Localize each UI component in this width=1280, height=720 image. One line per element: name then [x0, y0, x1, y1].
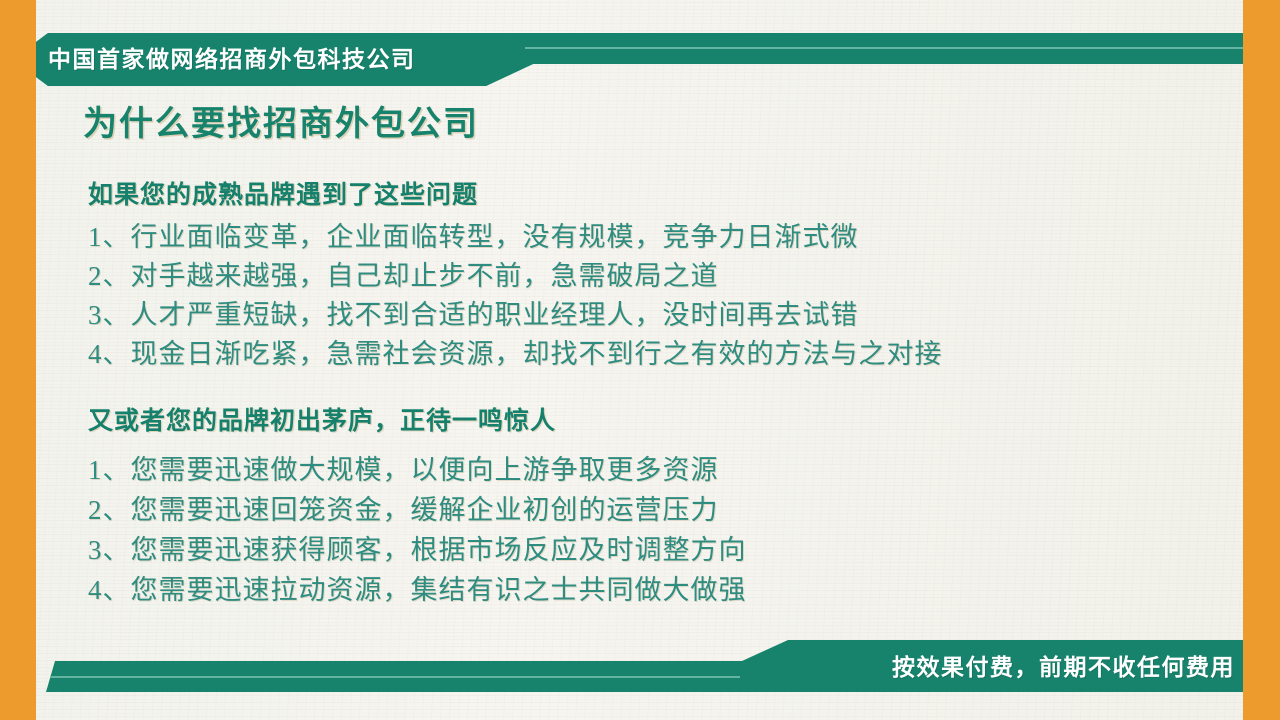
list-item: 2、您需要迅速回笼资金，缓解企业初创的运营压力	[88, 490, 1243, 530]
list-item: 4、现金日渐吃紧，急需社会资源，却找不到行之有效的方法与之对接	[88, 335, 1243, 374]
needs-list: 1、您需要迅速做大规模，以便向上游争取更多资源 2、您需要迅速回笼资金，缓解企业…	[88, 450, 1243, 610]
list-item: 1、行业面临变革，企业面临转型，没有规模，竞争力日渐式微	[88, 218, 1243, 257]
list-item: 4、您需要迅速拉动资源，集结有识之士共同做大做强	[88, 570, 1243, 610]
list-item: 1、您需要迅速做大规模，以便向上游争取更多资源	[88, 450, 1243, 490]
header-band-accent-line	[525, 47, 1243, 49]
slide-root: 中国首家做网络招商外包科技公司 为什么要找招商外包公司 如果您的成熟品牌遇到了这…	[0, 0, 1280, 720]
section-new-brand: 又或者您的品牌初出茅庐，正待一鸣惊人 1、您需要迅速做大规模，以便向上游争取更多…	[36, 404, 1243, 610]
section-mature-brand: 如果您的成熟品牌遇到了这些问题 1、行业面临变革，企业面临转型，没有规模，竞争力…	[36, 178, 1243, 374]
problem-list: 1、行业面临变革，企业面临转型，没有规模，竞争力日渐式微 2、对手越来越强，自己…	[88, 218, 1243, 374]
section-heading-new-brand: 又或者您的品牌初出茅庐，正待一鸣惊人	[88, 404, 1243, 438]
list-item: 3、您需要迅速获得顾客，根据市场反应及时调整方向	[88, 530, 1243, 570]
footer-tagline: 按效果付费，前期不收任何费用	[892, 652, 1235, 682]
section-heading-mature-brand: 如果您的成熟品牌遇到了这些问题	[88, 178, 1243, 212]
header-tagline: 中国首家做网络招商外包科技公司	[48, 44, 416, 74]
main-content: 为什么要找招商外包公司 如果您的成熟品牌遇到了这些问题 1、行业面临变革，企业面…	[36, 100, 1243, 610]
list-item: 3、人才严重短缺，找不到合适的职业经理人，没时间再去试错	[88, 296, 1243, 335]
footer-band-accent-line	[50, 676, 740, 678]
list-item: 2、对手越来越强，自己却止步不前，急需破局之道	[88, 257, 1243, 296]
page-title: 为什么要找招商外包公司	[36, 100, 1243, 148]
